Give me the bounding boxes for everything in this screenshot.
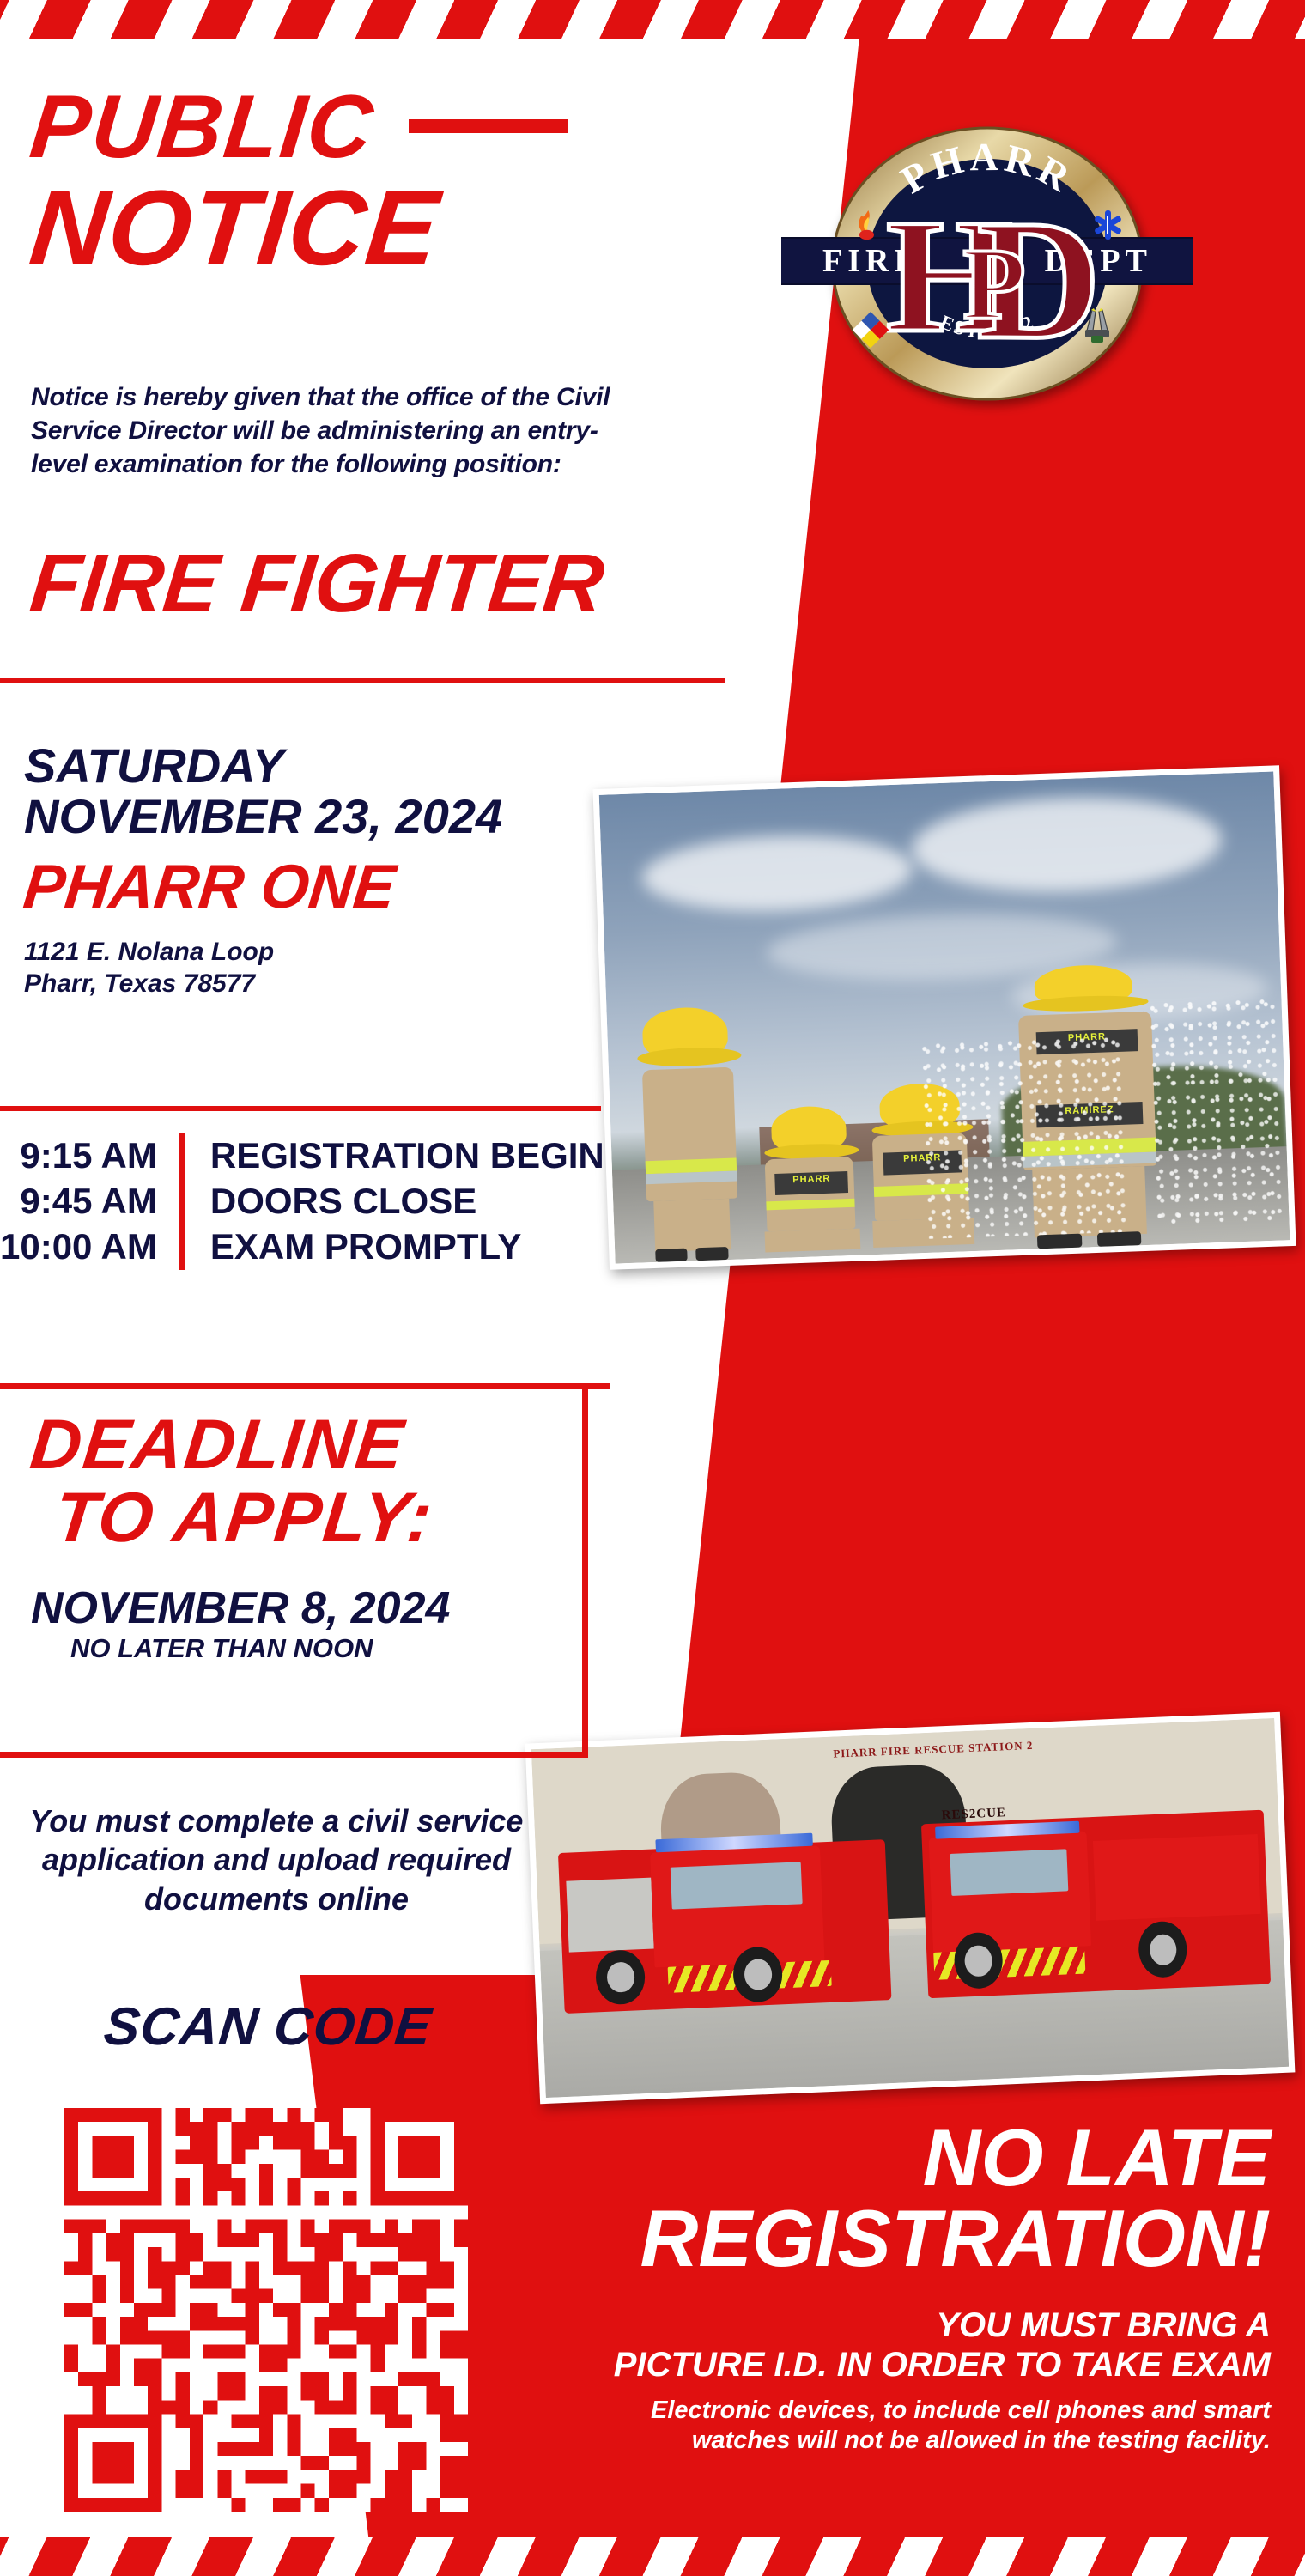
warning-bring-line2: PICTURE I.D. IN ORDER TO TAKE EXAM	[549, 2346, 1271, 2385]
warning-line1: NO LATE	[549, 2119, 1271, 2196]
schedule-time: 10:00 AM	[0, 1224, 157, 1270]
deadline-box-outline	[0, 1388, 588, 1758]
schedule-times-column: 9:15 AM 9:45 AM 10:00 AM	[0, 1133, 185, 1270]
schedule-label: REGISTRATION BEGIN	[210, 1133, 604, 1179]
svg-text:P: P	[962, 227, 1025, 341]
page-title: PUBLIC NOTICE	[31, 82, 735, 282]
warning-line2: REGISTRATION!	[549, 2200, 1271, 2277]
scan-code-label: SCAN CODE	[15, 1996, 519, 2057]
hazard-stripe-top	[0, 0, 1305, 39]
intro-paragraph: Notice is hereby given that the office o…	[31, 380, 615, 481]
pharr-fire-dept-badge: PHARR EST. 1922 FIRE DEPT H D P	[781, 82, 1193, 442]
hazard-stripe-bottom	[0, 2537, 1305, 2576]
schedule-top-rule	[0, 1106, 601, 1111]
title-rule	[409, 119, 568, 133]
apply-instructions: You must complete a civil service applic…	[19, 1801, 534, 1918]
exam-address-line2: Pharr, Texas 78577	[24, 969, 711, 1000]
schedule-time: 9:15 AM	[0, 1133, 157, 1179]
warning-bring-line1: YOU MUST BRING A	[549, 2306, 1271, 2346]
fire-truck-right: RES2CUE	[921, 1809, 1271, 1998]
qr-code[interactable]	[64, 2108, 468, 2512]
schedule-table: 9:15 AM 9:45 AM 10:00 AM REGISTRATION BE…	[0, 1106, 601, 1270]
warning-fine-print: Electronic devices, to include cell phon…	[549, 2396, 1271, 2457]
exam-venue: PHARR ONE	[21, 853, 714, 922]
truck-badge-text: RES2CUE	[941, 1807, 1006, 1824]
divider-rule	[0, 678, 725, 683]
schedule-label: DOORS CLOSE	[210, 1179, 604, 1224]
poster-canvas: PHARR PHARR PHARR RAMIREZ	[0, 0, 1305, 2576]
exam-date: NOVEMBER 23, 2024	[24, 791, 711, 841]
badge-monogram: H D P	[886, 185, 1101, 375]
exam-details: SATURDAY NOVEMBER 23, 2024 PHARR ONE 112…	[24, 740, 711, 1000]
position-title: FIRE FIGHTER	[27, 543, 608, 625]
exam-address-line1: 1121 E. Nolana Loop	[24, 937, 711, 969]
exam-day: SATURDAY	[24, 740, 711, 791]
schedule-label: EXAM PROMPTLY	[210, 1224, 604, 1270]
schedule-time: 9:45 AM	[0, 1179, 157, 1224]
schedule-labels-column: REGISTRATION BEGIN DOORS CLOSE EXAM PROM…	[185, 1133, 604, 1270]
title-notice: NOTICE	[26, 177, 741, 282]
title-public: PUBLIC	[27, 82, 379, 172]
firefighter-figure: PHARR	[758, 1105, 865, 1259]
no-late-registration-block: NO LATE REGISTRATION! YOU MUST BRING A P…	[549, 2119, 1271, 2456]
